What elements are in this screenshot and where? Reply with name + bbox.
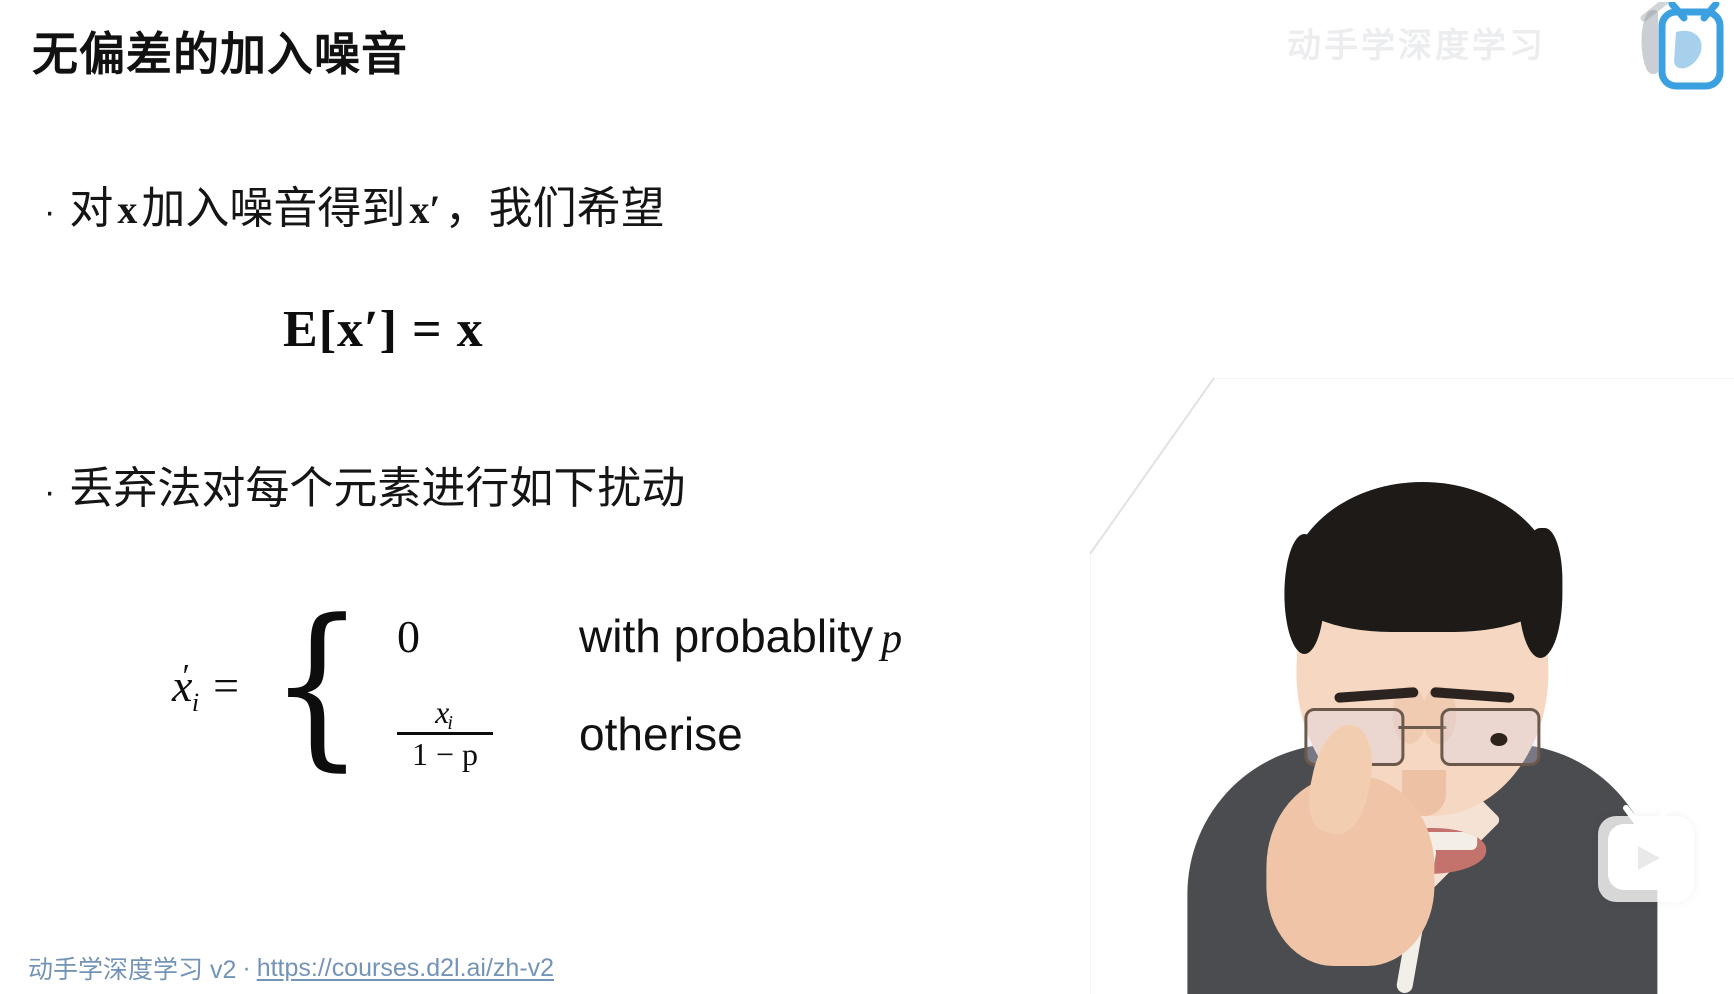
equation-close-bracket: ] (380, 301, 398, 358)
footer-course-name: 动手学深度学习 v2 (28, 950, 236, 986)
equation-rhs-x: x (457, 301, 484, 358)
bullet-1-text-after: ，我们希望 (445, 172, 665, 236)
piecewise-brace: { (269, 622, 364, 749)
presenter-eye-right (1490, 733, 1507, 746)
piecewise-case-1-symbol-p: p (873, 616, 902, 662)
equation-expectation: E[x′] = x (283, 300, 484, 359)
piecewise-case-2-value: xi 1 − p (379, 696, 579, 771)
equation-equals-sign: = (412, 301, 443, 358)
bilibili-logo-icon (1548, 2, 1724, 98)
piecewise-fraction-denominator: 1 − p (412, 735, 478, 772)
piecewise-numerator-subscript: i (447, 712, 453, 734)
presenter-glasses-bridge (1398, 726, 1446, 729)
bullet-marker-icon: · (44, 195, 55, 229)
bullet-1-text-mid: 加入噪音得到 (141, 172, 405, 236)
piecewise-case-1-value: 0 (379, 610, 579, 663)
bullet-1-text-before: 对 (69, 172, 113, 236)
footer-course-link[interactable]: https://courses.d2l.ai/zh-v2 (257, 954, 554, 983)
bullet-1-symbol-x: x (113, 186, 141, 233)
piecewise-lhs-subscript: i (192, 688, 199, 717)
bullet-item-2: · 丢弃法对每个元素进行如下扰动 (44, 452, 685, 516)
piecewise-case-1-description-text: with probablity (579, 610, 873, 662)
piecewise-lhs-prime: ′ (180, 658, 187, 695)
bilibili-tv-logo-icon (1598, 816, 1694, 902)
presenter-video-overlay[interactable] (1090, 378, 1734, 994)
presenter-hair (1288, 482, 1556, 632)
watermark-text: 动手学深度学习 (1287, 18, 1546, 67)
equation-open-bracket: [ (319, 301, 337, 358)
piecewise-equals-sign: = (213, 659, 249, 712)
presenter-figure (1162, 434, 1682, 994)
bullet-2-text: 丢弃法对每个元素进行如下扰动 (69, 452, 685, 516)
piecewise-case-2-description: otherise (579, 707, 743, 761)
piecewise-case-1: 0 with probablityp (379, 592, 902, 680)
bullet-1-symbol-x-prime: x′ (405, 186, 444, 233)
piecewise-case-2: xi 1 − p otherise (379, 690, 902, 778)
slide-canvas: 无偏差的加入噪音 动手学深度学习 · 对 x 加入噪音得到 x′ ，我们希望 E… (0, 0, 1734, 994)
piecewise-lhs: x′i (172, 659, 213, 712)
equation-argument-x-prime: x′ (337, 301, 380, 358)
bullet-marker-icon: · (44, 475, 55, 509)
piecewise-case-1-description: with probablityp (579, 609, 902, 663)
piecewise-case-2-description-text: otherise (579, 708, 743, 760)
equation-piecewise: x′i = { 0 with probablityp xi 1 − p (172, 592, 902, 778)
footer: 动手学深度学习 v2 · https://courses.d2l.ai/zh-v… (28, 950, 554, 986)
piecewise-fraction: xi 1 − p (397, 696, 493, 771)
piecewise-cases: 0 with probablityp xi 1 − p otherise (379, 592, 902, 778)
bullet-item-1: · 对 x 加入噪音得到 x′ ，我们希望 (44, 172, 665, 236)
piecewise-fraction-numerator: xi (435, 696, 455, 732)
footer-separator: · (236, 954, 256, 983)
presenter-lens-right (1440, 708, 1540, 766)
page-title: 无偏差的加入噪音 (32, 18, 408, 84)
equation-operator-E: E (283, 301, 319, 358)
